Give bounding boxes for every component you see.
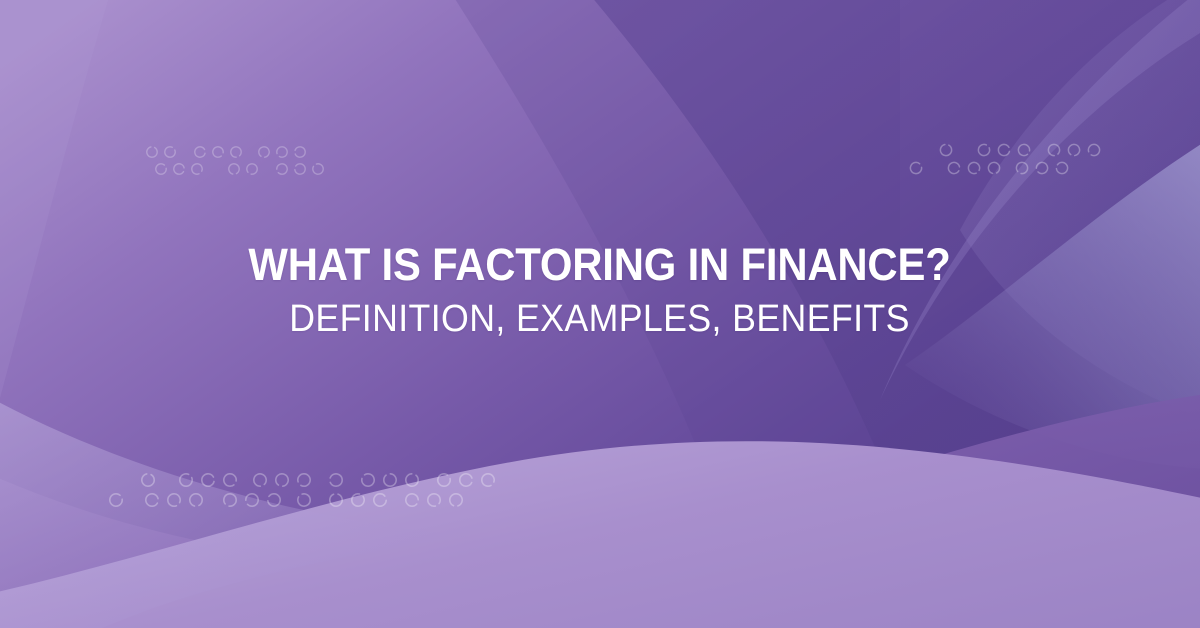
text-inner: WHAT IS FACTORING IN FINANCE? DEFINITION…	[222, 241, 977, 341]
subheadline: DEFINITION, EXAMPLES, BENEFITS	[245, 299, 955, 341]
text-block: WHAT IS FACTORING IN FINANCE? DEFINITION…	[0, 0, 1200, 628]
headline: WHAT IS FACTORING IN FINANCE?	[249, 241, 951, 290]
banner: WHAT IS FACTORING IN FINANCE? DEFINITION…	[0, 0, 1200, 628]
